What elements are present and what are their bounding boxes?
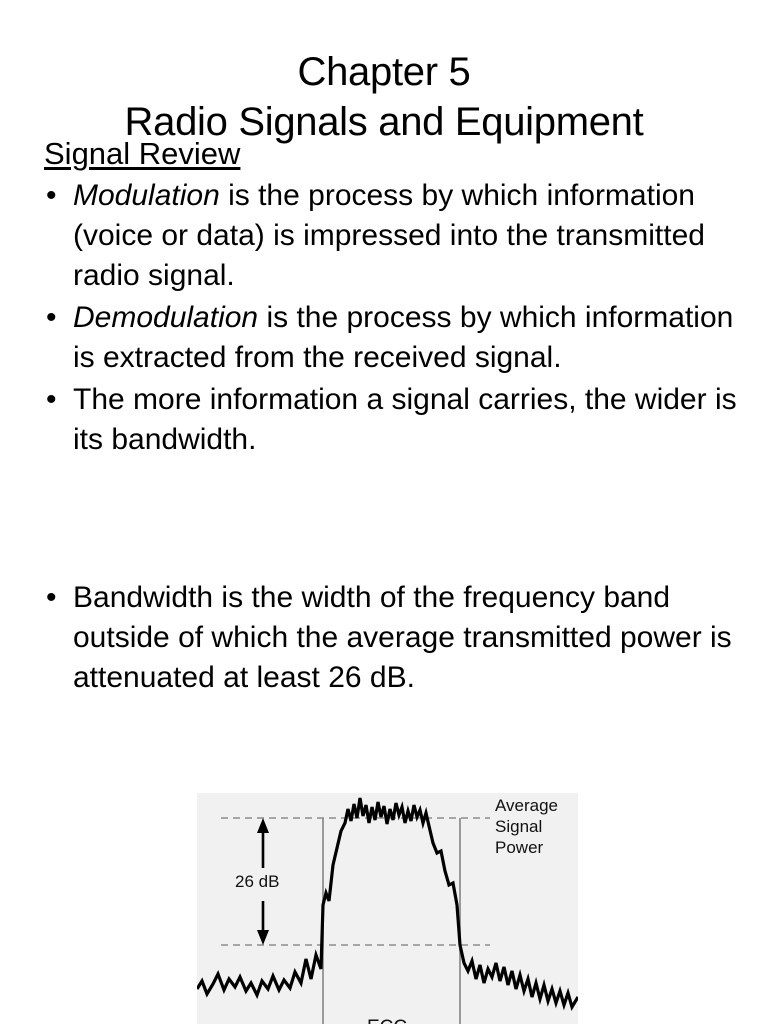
- bullet-item-bandwidth-info: • The more information a signal carries,…: [44, 380, 744, 460]
- spectrum-figure: Average Signal Power 26 dB ECC: [197, 793, 578, 1024]
- section-heading: Signal Review: [44, 136, 744, 172]
- bullet-marker: •: [46, 298, 57, 338]
- bullet-marker: •: [46, 380, 57, 420]
- page-title: Chapter 5 Radio Signals and Equipment: [0, 47, 768, 147]
- average-signal-power-label-line1: Average: [495, 795, 558, 816]
- average-signal-power-label: Average Signal Power: [495, 795, 558, 858]
- average-signal-power-label-line2: Signal: [495, 816, 558, 837]
- title-line-1: Chapter 5: [298, 50, 471, 94]
- bullet-text: The more information a signal carries, t…: [73, 383, 737, 456]
- bullet-marker: •: [46, 176, 57, 216]
- bullet-gap-spacer: [44, 462, 744, 578]
- bullet-item-demodulation: • Demodulation is the process by which i…: [44, 298, 744, 378]
- bullet-emphasis: Modulation: [73, 179, 220, 212]
- bullet-text: Bandwidth is the width of the frequency …: [73, 581, 732, 694]
- average-signal-power-label-line3: Power: [495, 837, 558, 858]
- attenuation-label: 26 dB: [235, 871, 279, 892]
- attenuation-arrow-up: [257, 818, 269, 868]
- bullet-item-bandwidth-definition: • Bandwidth is the width of the frequenc…: [44, 578, 744, 698]
- bullet-list: • Modulation is the process by which inf…: [44, 176, 744, 698]
- bullet-marker: •: [46, 578, 57, 618]
- occupied-bandwidth-label: ECC: [367, 1017, 407, 1024]
- bullet-emphasis: Demodulation: [73, 301, 258, 334]
- attenuation-arrow-down: [257, 901, 269, 945]
- slide-body: Signal Review • Modulation is the proces…: [44, 136, 744, 700]
- bullet-item-modulation: • Modulation is the process by which inf…: [44, 176, 744, 296]
